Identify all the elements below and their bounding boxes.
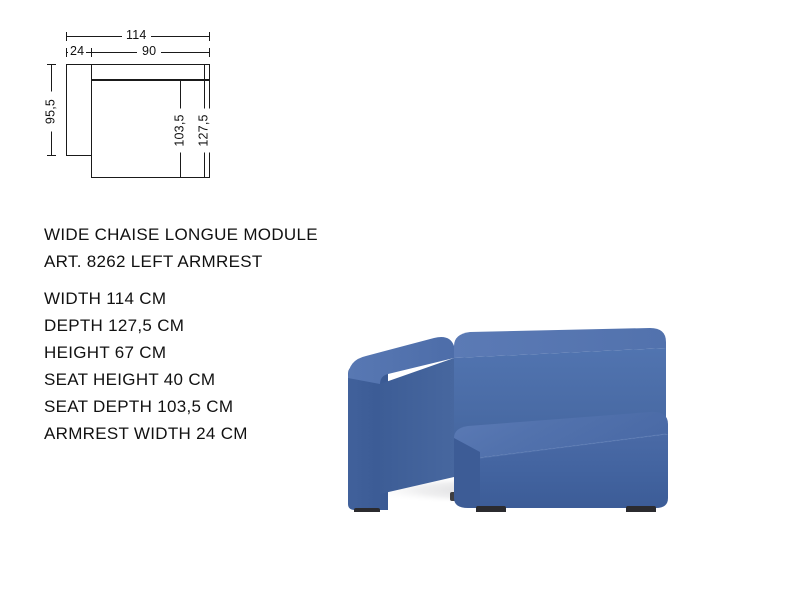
product-title-line-1: WIDE CHAISE LONGUE MODULE bbox=[44, 221, 374, 248]
dim-24-label: 24 bbox=[68, 45, 86, 58]
dim-114-label: 114 bbox=[122, 29, 151, 42]
spec-seat-height: SEAT HEIGHT 40 CM bbox=[44, 366, 374, 393]
dim-1035-label: 103,5 bbox=[172, 109, 189, 153]
armrest-inner-face bbox=[380, 358, 454, 494]
dim-1035-tick-bottom bbox=[176, 177, 185, 178]
spec-armrest-width: ARMREST WIDTH 24 CM bbox=[44, 420, 374, 447]
dim-1275-tick-top bbox=[200, 64, 209, 65]
plan-armrest-rect bbox=[66, 64, 92, 156]
plan-seat-rect bbox=[91, 64, 210, 178]
dim-90-tick-right bbox=[209, 48, 210, 57]
plan-backrest-line bbox=[91, 79, 210, 81]
seat-foot-right bbox=[626, 506, 656, 512]
dim-955-tick-top bbox=[47, 64, 56, 65]
product-article-line: ART. 8262 LEFT ARMREST bbox=[44, 248, 374, 275]
dim-114-tick-right bbox=[209, 32, 210, 41]
product-spec-text: WIDE CHAISE LONGUE MODULE ART. 8262 LEFT… bbox=[44, 221, 374, 447]
dim-955-tick-bottom bbox=[47, 155, 56, 156]
dim-1275-tick-bottom bbox=[200, 177, 209, 178]
dim-114-tick-left bbox=[66, 32, 67, 41]
product-photo bbox=[330, 262, 670, 512]
spec-height: HEIGHT 67 CM bbox=[44, 339, 374, 366]
dim-1035-tick-top bbox=[176, 79, 185, 80]
technical-drawing: 114 24 90 95,5 103,5 127,5 bbox=[40, 22, 230, 194]
spec-spacer bbox=[44, 275, 374, 285]
dim-1275-label: 127,5 bbox=[196, 109, 213, 153]
product-spec-sheet: 114 24 90 95,5 103,5 127,5 WID bbox=[0, 0, 800, 600]
dim-24-tick-left bbox=[66, 48, 67, 57]
dim-90-label: 90 bbox=[137, 45, 161, 58]
seat-foot-left bbox=[476, 506, 506, 512]
dim-955-label: 95,5 bbox=[43, 92, 60, 132]
spec-depth: DEPTH 127,5 CM bbox=[44, 312, 374, 339]
armrest-foot-front bbox=[354, 508, 380, 512]
spec-width: WIDTH 114 CM bbox=[44, 285, 374, 312]
spec-seat-depth: SEAT DEPTH 103,5 CM bbox=[44, 393, 374, 420]
